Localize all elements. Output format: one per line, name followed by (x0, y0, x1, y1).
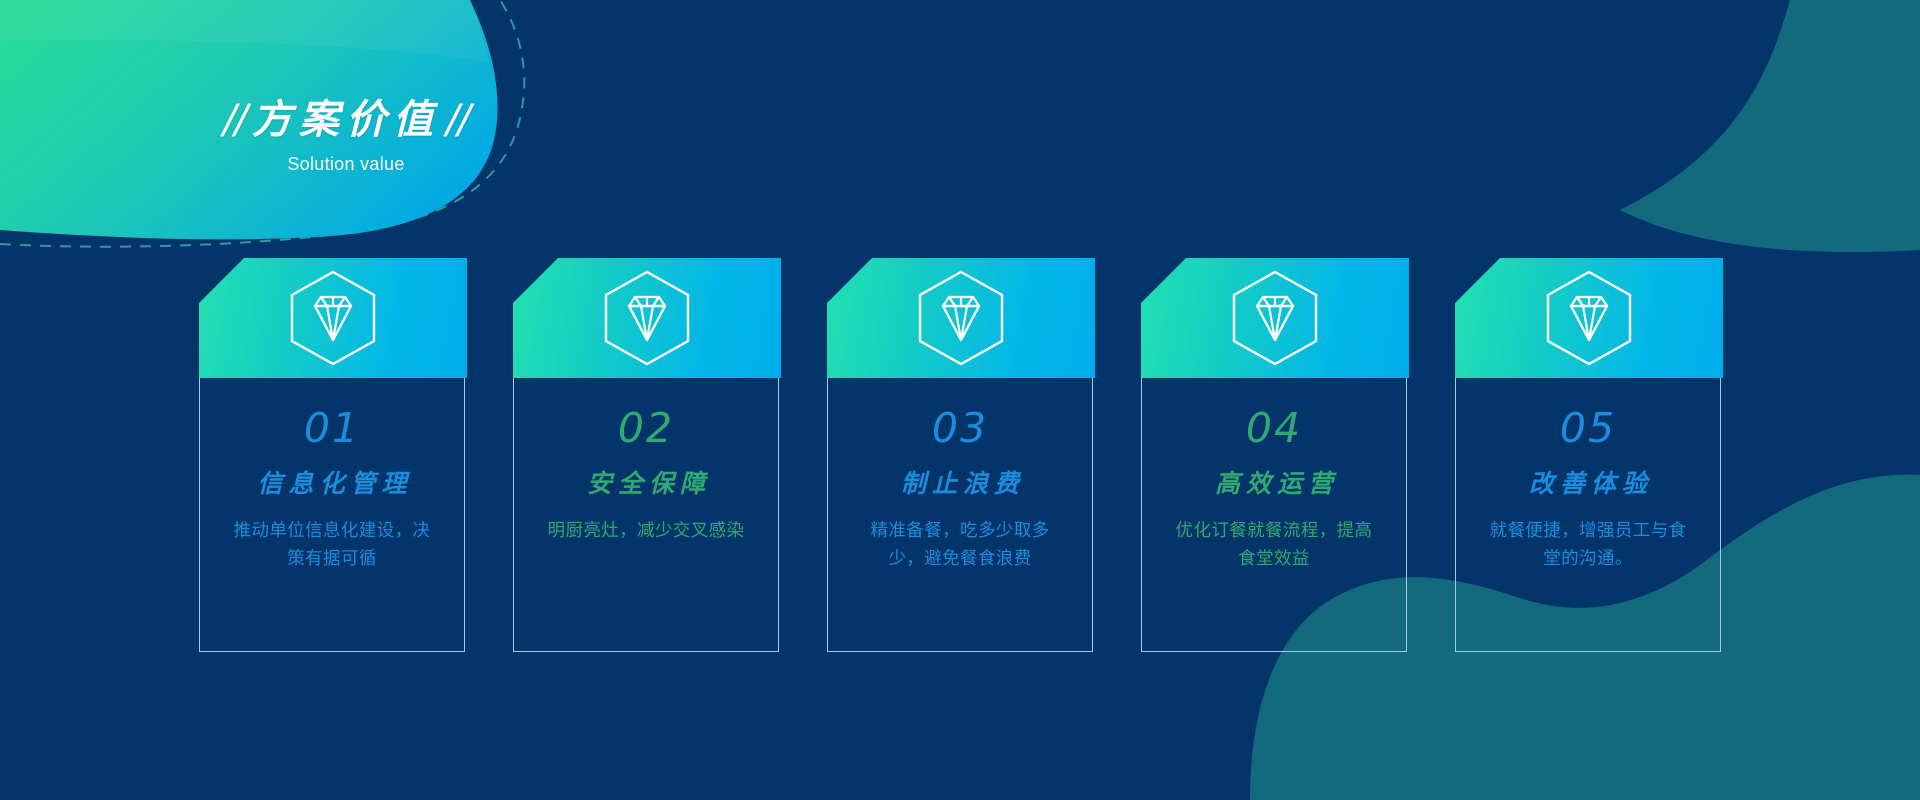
value-card[interactable]: 02 安全保障 明厨亮灶，减少交叉感染 (513, 258, 781, 654)
card-title: 改善体验 (1523, 471, 1653, 496)
card-title: 信息化管理 (251, 471, 412, 496)
card-header (1455, 258, 1723, 378)
card-header (199, 258, 467, 378)
card-header (513, 258, 781, 378)
card-description: 优化订餐就餐流程，提高食堂效益 (1168, 516, 1380, 573)
page-title: //方案价值// (196, 100, 496, 140)
diamond-hexagon-icon (1231, 270, 1319, 366)
diamond-hexagon-icon (289, 270, 377, 366)
page-subtitle: Solution value (196, 154, 496, 175)
card-title: 高效运营 (1209, 471, 1339, 496)
card-body: 04 高效运营 优化订餐就餐流程，提高食堂效益 (1141, 378, 1407, 652)
card-body: 03 制止浪费 精准备餐，吃多少取多少，避免餐食浪费 (827, 378, 1093, 652)
card-body: 01 信息化管理 推动单位信息化建设，决策有据可循 (199, 378, 465, 652)
card-description: 明厨亮灶，减少交叉感染 (540, 516, 752, 544)
diamond-hexagon-icon (917, 270, 1005, 366)
slash-left-decoration: // (217, 100, 252, 140)
diamond-hexagon-icon (603, 270, 691, 366)
page-title-text: 方案价值 (252, 97, 440, 143)
value-card[interactable]: 04 高效运营 优化订餐就餐流程，提高食堂效益 (1141, 258, 1409, 654)
slide-canvas: //方案价值// Solution value 01 信息化管理 推动单位信息化… (0, 0, 1920, 800)
card-number: 05 (1560, 408, 1616, 449)
card-header (827, 258, 1095, 378)
card-number: 04 (1246, 408, 1302, 449)
card-header (1141, 258, 1409, 378)
card-body: 02 安全保障 明厨亮灶，减少交叉感染 (513, 378, 779, 652)
blob-top-right (1620, 0, 1920, 252)
card-number: 03 (932, 408, 988, 449)
card-body: 05 改善体验 就餐便捷，增强员工与食堂的沟通。 (1455, 378, 1721, 652)
page-title-block: //方案价值// Solution value (196, 100, 496, 175)
card-description: 精准备餐，吃多少取多少，避免餐食浪费 (854, 516, 1066, 573)
value-card-list: 01 信息化管理 推动单位信息化建设，决策有据可循 02 安全保障 明厨亮灶，减… (0, 258, 1920, 658)
card-description: 推动单位信息化建设，决策有据可循 (226, 516, 438, 573)
card-description: 就餐便捷，增强员工与食堂的沟通。 (1482, 516, 1694, 573)
diamond-hexagon-icon (1545, 270, 1633, 366)
value-card[interactable]: 03 制止浪费 精准备餐，吃多少取多少，避免餐食浪费 (827, 258, 1095, 654)
value-card[interactable]: 05 改善体验 就餐便捷，增强员工与食堂的沟通。 (1455, 258, 1723, 654)
value-card[interactable]: 01 信息化管理 推动单位信息化建设，决策有据可循 (199, 258, 467, 654)
card-number: 02 (618, 408, 674, 449)
slash-right-decoration: // (440, 100, 475, 140)
card-title: 安全保障 (581, 471, 711, 496)
card-title: 制止浪费 (895, 471, 1025, 496)
card-number: 01 (304, 408, 360, 449)
